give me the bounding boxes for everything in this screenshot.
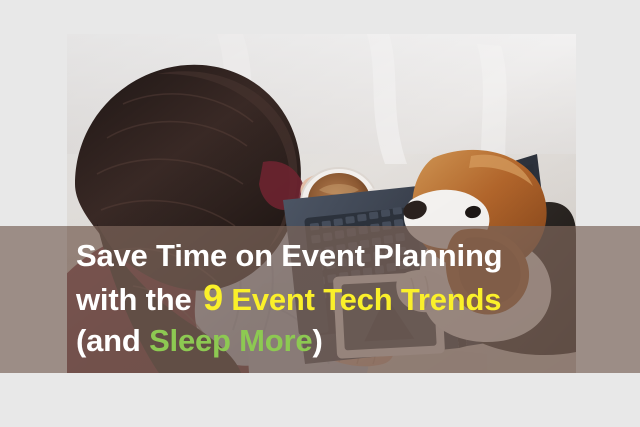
headline-line-3: (and Sleep More): [76, 325, 616, 356]
headline-open-paren: (and: [76, 323, 141, 358]
banner-graphic: Save Time on Event Planning with the 9 E…: [0, 0, 640, 427]
headline-line-1: Save Time on Event Planning: [76, 240, 616, 271]
headline-line-3-highlight: Sleep More: [149, 323, 312, 358]
headline-line-2: with the 9 Event Tech Trends: [76, 280, 616, 316]
headline-block: Save Time on Event Planning with the 9 E…: [76, 240, 616, 356]
headline-line-1-text: Save Time on Event Planning: [76, 238, 502, 273]
band-left-solid: [0, 226, 67, 373]
headline-close-paren: ): [312, 323, 322, 358]
headline-line-2-prefix: with the: [76, 282, 192, 317]
headline-number: 9: [203, 277, 223, 318]
headline-line-2-highlight: Event Tech Trends: [231, 282, 501, 317]
